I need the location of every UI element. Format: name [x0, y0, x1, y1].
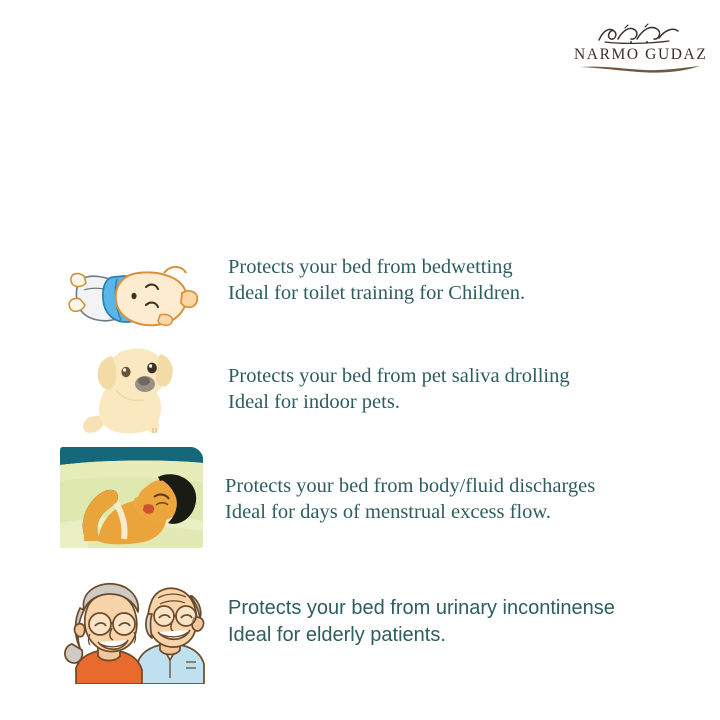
sitting-puppy-illustration: [60, 340, 202, 438]
feature-row-pets: Protects your bed from pet saliva drolli…: [60, 340, 570, 438]
feature-line-2: Ideal for toilet training for Children.: [228, 280, 525, 306]
feature-line-1: Protects your bed from pet saliva drolli…: [228, 363, 570, 389]
feature-line-1: Protects your bed from bedwetting: [228, 254, 525, 280]
feature-text-bedwetting: Protects your bed from bedwetting Ideal …: [228, 243, 525, 306]
feature-line-2: Ideal for elderly patients.: [228, 622, 615, 649]
brand-name: NARMO GUDAZ: [574, 47, 706, 63]
feature-list-page: NARMO GUDAZ: [0, 0, 720, 720]
feature-text-pets: Protects your bed from pet saliva drolli…: [228, 340, 570, 415]
feature-row-bedwetting: Protects your bed from bedwetting Ideal …: [60, 243, 525, 329]
brand-swoosh-icon: [579, 64, 701, 73]
sleeping-baby-illustration: [60, 243, 206, 329]
urdu-script-icon: [585, 22, 695, 46]
feature-row-elderly: Protects your bed from urinary incontine…: [60, 566, 615, 684]
feature-line-2: Ideal for indoor pets.: [228, 389, 570, 415]
elderly-couple-illustration: [60, 566, 210, 684]
feature-line-1: Protects your bed from urinary incontine…: [228, 595, 615, 622]
feature-text-elderly: Protects your bed from urinary incontine…: [228, 566, 615, 649]
feature-line-2: Ideal for days of menstrual excess flow.: [225, 499, 595, 525]
feature-text-menstrual: Protects your bed from body/fluid discha…: [225, 447, 595, 525]
feature-line-1: Protects your bed from body/fluid discha…: [225, 473, 595, 499]
sleeping-woman-illustration: [60, 447, 203, 548]
feature-row-menstrual: Protects your bed from body/fluid discha…: [60, 447, 595, 548]
brand-logo: NARMO GUDAZ: [574, 22, 706, 73]
